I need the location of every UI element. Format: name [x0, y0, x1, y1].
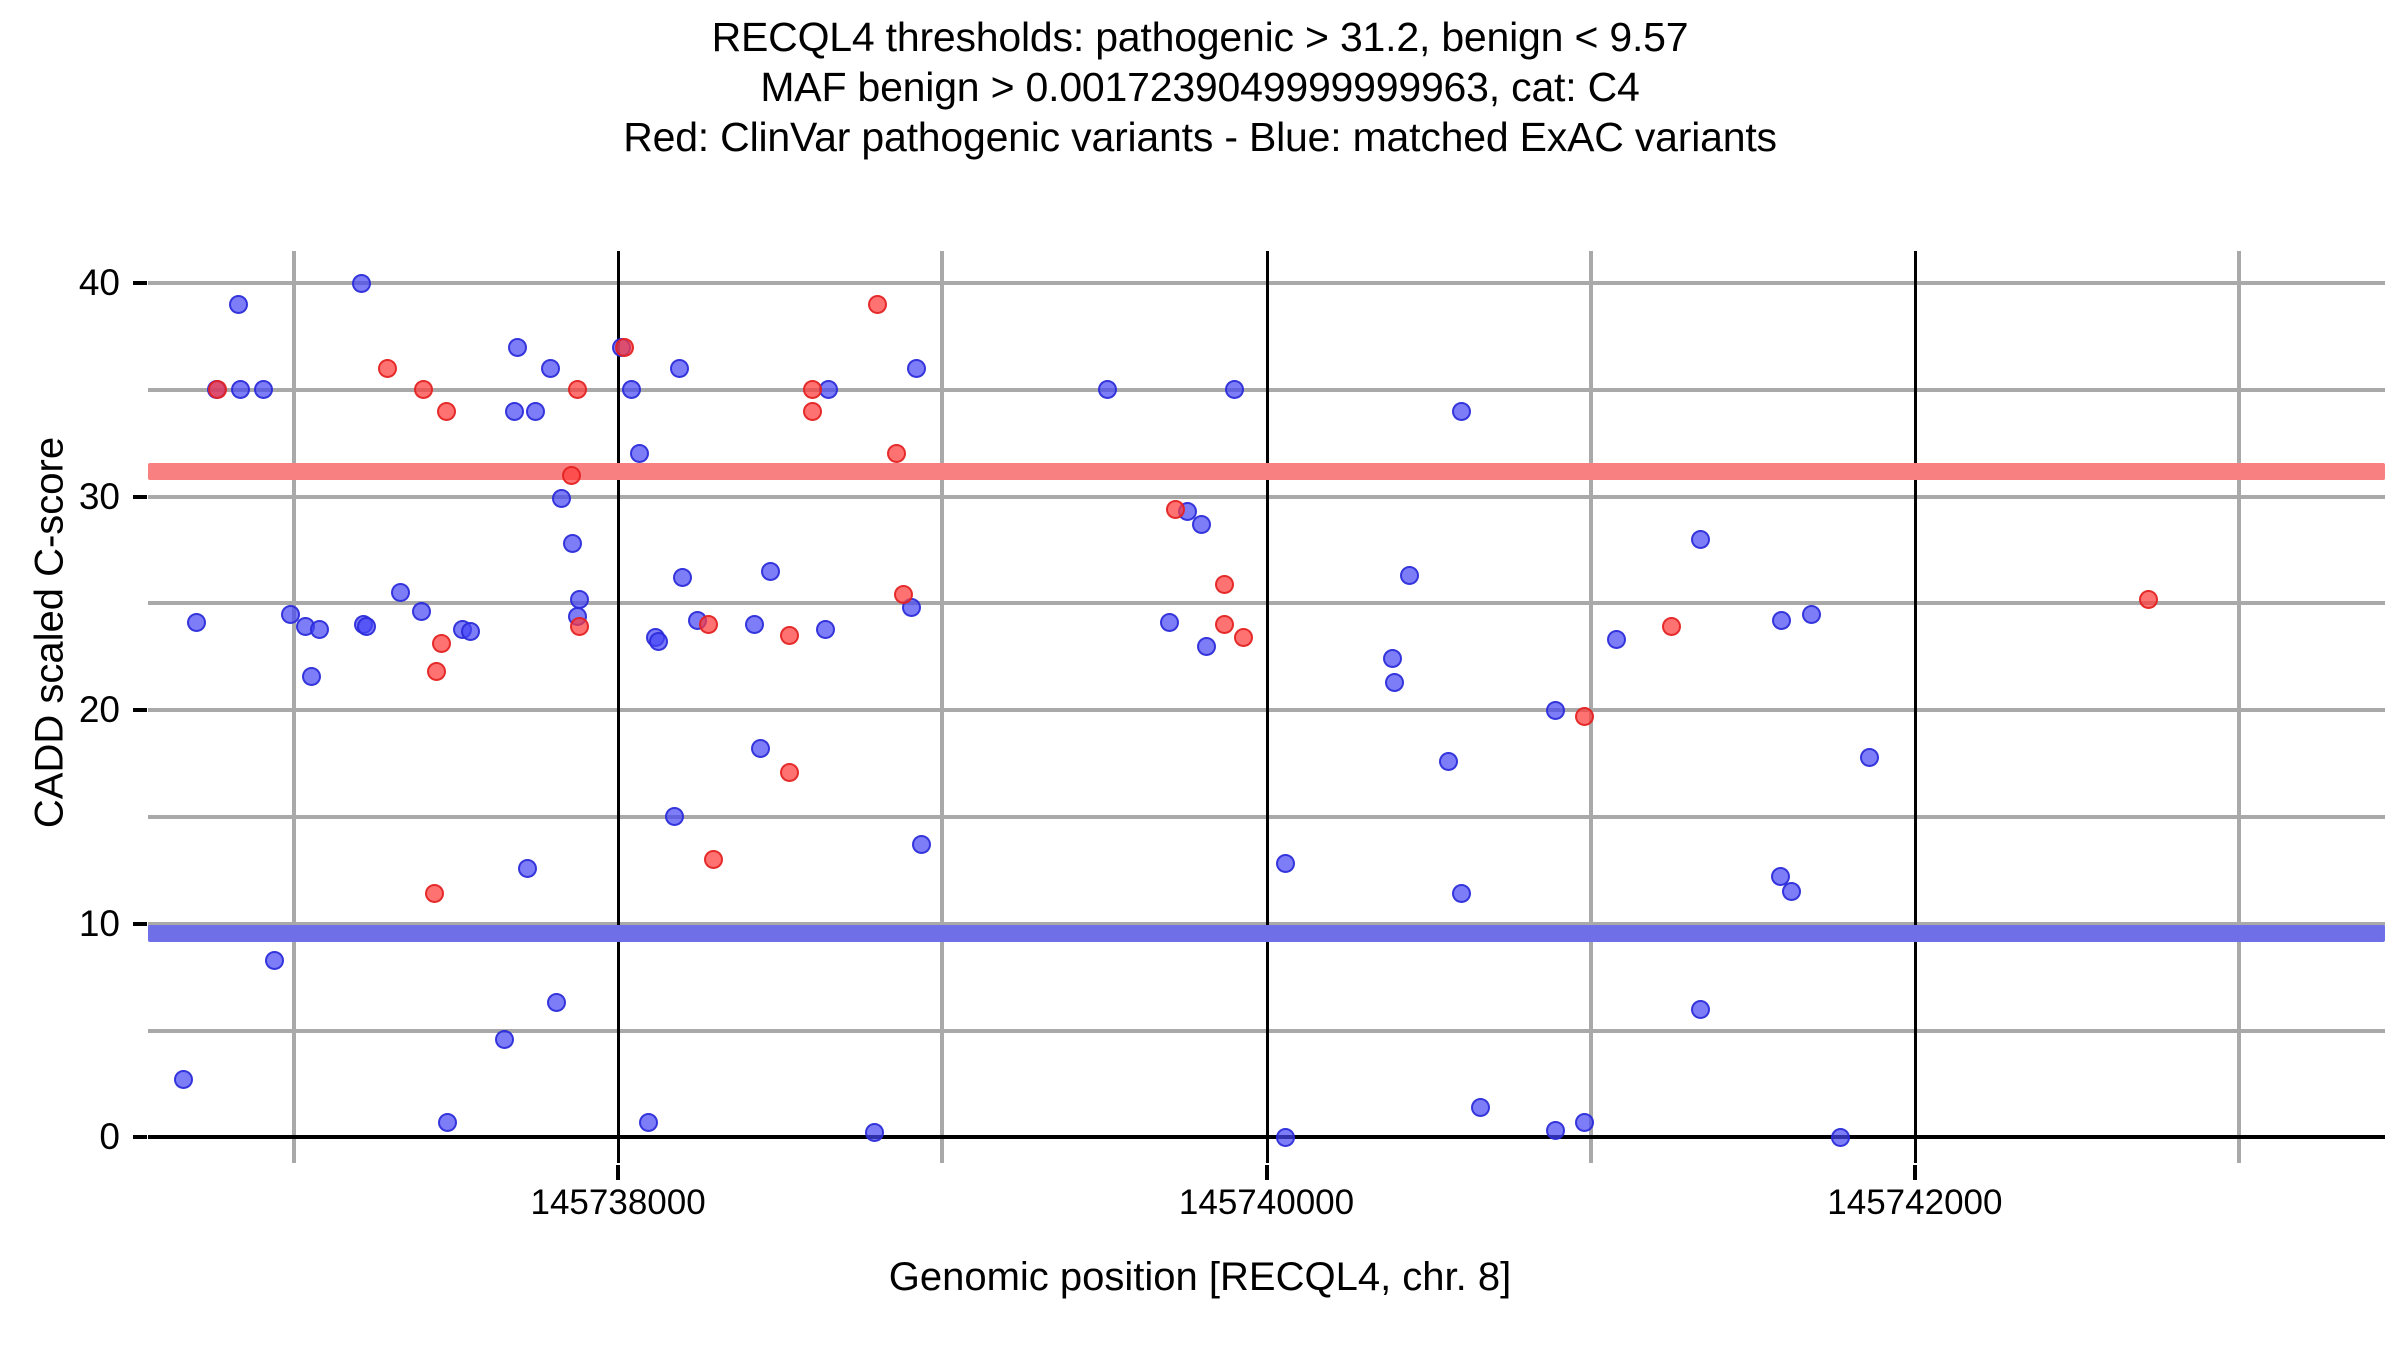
y-tick-label-10: 10: [79, 905, 120, 942]
scatter-point-blue: [745, 615, 764, 634]
scatter-point-blue: [1546, 1121, 1565, 1140]
scatter-point-blue: [1225, 380, 1244, 399]
title-line-3: Red: ClinVar pathogenic variants - Blue:…: [0, 112, 2400, 162]
scatter-point-blue: [265, 951, 284, 970]
scatter-point-blue: [1385, 673, 1404, 692]
scatter-point-blue: [622, 380, 641, 399]
scatter-point-blue: [1192, 515, 1211, 534]
scatter-point-blue: [254, 380, 273, 399]
scatter-point-blue: [1452, 884, 1471, 903]
chart-title: RECQL4 thresholds: pathogenic > 31.2, be…: [0, 12, 2400, 162]
y-tick-mark-20: [133, 708, 147, 712]
scatter-point-red: [868, 295, 887, 314]
scatter-point-red: [1215, 615, 1234, 634]
scatter-point-blue: [1439, 752, 1458, 771]
y-tick-label-0: 0: [99, 1118, 120, 1155]
scatter-point-red: [1215, 575, 1234, 594]
scatter-point-red: [780, 763, 799, 782]
scatter-point-blue: [1802, 605, 1821, 624]
y-tick-mark-0: [133, 1135, 147, 1139]
scatter-point-blue: [912, 835, 931, 854]
scatter-point-red: [437, 402, 456, 421]
gridline-x-145739000: [940, 251, 944, 1163]
y-tick-mark-40: [133, 281, 147, 285]
x-tick-label-145738000: 145738000: [530, 1185, 705, 1220]
x-axis-line-145740000: [1266, 251, 1269, 1163]
x-tick-label-145740000: 145740000: [1179, 1185, 1354, 1220]
chart-root: RECQL4 thresholds: pathogenic > 31.2, be…: [0, 0, 2400, 1350]
x-tick-label-145742000: 145742000: [1827, 1185, 2002, 1220]
y-tick-label-30: 30: [79, 478, 120, 515]
scatter-point-blue: [518, 859, 537, 878]
threshold-band-pathogenic: [148, 463, 2385, 480]
scatter-point-blue: [761, 562, 780, 581]
scatter-point-red: [2139, 590, 2158, 609]
gridline-x-145743000: [2237, 251, 2241, 1163]
title-line-2: MAF benign > 0.0017239049999999963, cat:…: [0, 62, 2400, 112]
x-axis-line-145742000: [1914, 251, 1917, 1163]
x-axis-baseline: [148, 1135, 2385, 1139]
scatter-point-blue: [302, 667, 321, 686]
x-axis-line-145738000: [617, 251, 620, 1163]
scatter-point-blue: [505, 402, 524, 421]
gridline-x-145737000: [292, 251, 296, 1163]
threshold-band-benign: [148, 925, 2385, 942]
x-tick-mark-145742000: [1913, 1165, 1917, 1180]
x-axis-label: Genomic position [RECQL4, chr. 8]: [0, 1255, 2400, 1300]
y-tick-label-40: 40: [79, 264, 120, 301]
scatter-point-blue: [1197, 637, 1216, 656]
x-tick-mark-145740000: [1265, 1165, 1269, 1180]
scatter-point-blue: [1452, 402, 1471, 421]
scatter-point-red: [562, 466, 581, 485]
y-tick-mark-30: [133, 495, 147, 499]
scatter-point-blue: [541, 359, 560, 378]
scatter-point-blue: [1860, 748, 1879, 767]
scatter-point-blue: [526, 402, 545, 421]
scatter-point-blue: [310, 620, 329, 639]
x-tick-mark-145738000: [616, 1165, 620, 1180]
scatter-point-blue: [461, 622, 480, 641]
scatter-point-red: [570, 617, 589, 636]
title-line-1: RECQL4 thresholds: pathogenic > 31.2, be…: [0, 12, 2400, 62]
scatter-point-blue: [570, 590, 589, 609]
scatter-point-blue: [495, 1030, 514, 1049]
scatter-point-blue: [352, 274, 371, 293]
scatter-point-blue: [630, 444, 649, 463]
scatter-point-blue: [816, 620, 835, 639]
scatter-point-red: [1575, 707, 1594, 726]
gridline-x-145741000: [1589, 251, 1593, 1163]
scatter-point-blue: [1831, 1128, 1850, 1147]
scatter-point-blue: [1546, 701, 1565, 720]
scatter-point-red: [1166, 500, 1185, 519]
scatter-point-blue: [1471, 1098, 1490, 1117]
y-axis-label: CADD scaled C-score: [28, 233, 73, 1033]
scatter-point-blue: [508, 338, 527, 357]
scatter-point-blue: [1400, 566, 1419, 585]
scatter-point-blue: [907, 359, 926, 378]
plot-area: [148, 251, 2385, 1163]
scatter-point-blue: [552, 489, 571, 508]
scatter-point-red: [803, 402, 822, 421]
scatter-point-blue: [1575, 1113, 1594, 1132]
y-tick-label-20: 20: [79, 691, 120, 728]
scatter-point-blue: [865, 1123, 884, 1142]
scatter-point-blue: [1160, 613, 1179, 632]
scatter-point-red: [615, 338, 634, 357]
y-tick-mark-10: [133, 922, 147, 926]
